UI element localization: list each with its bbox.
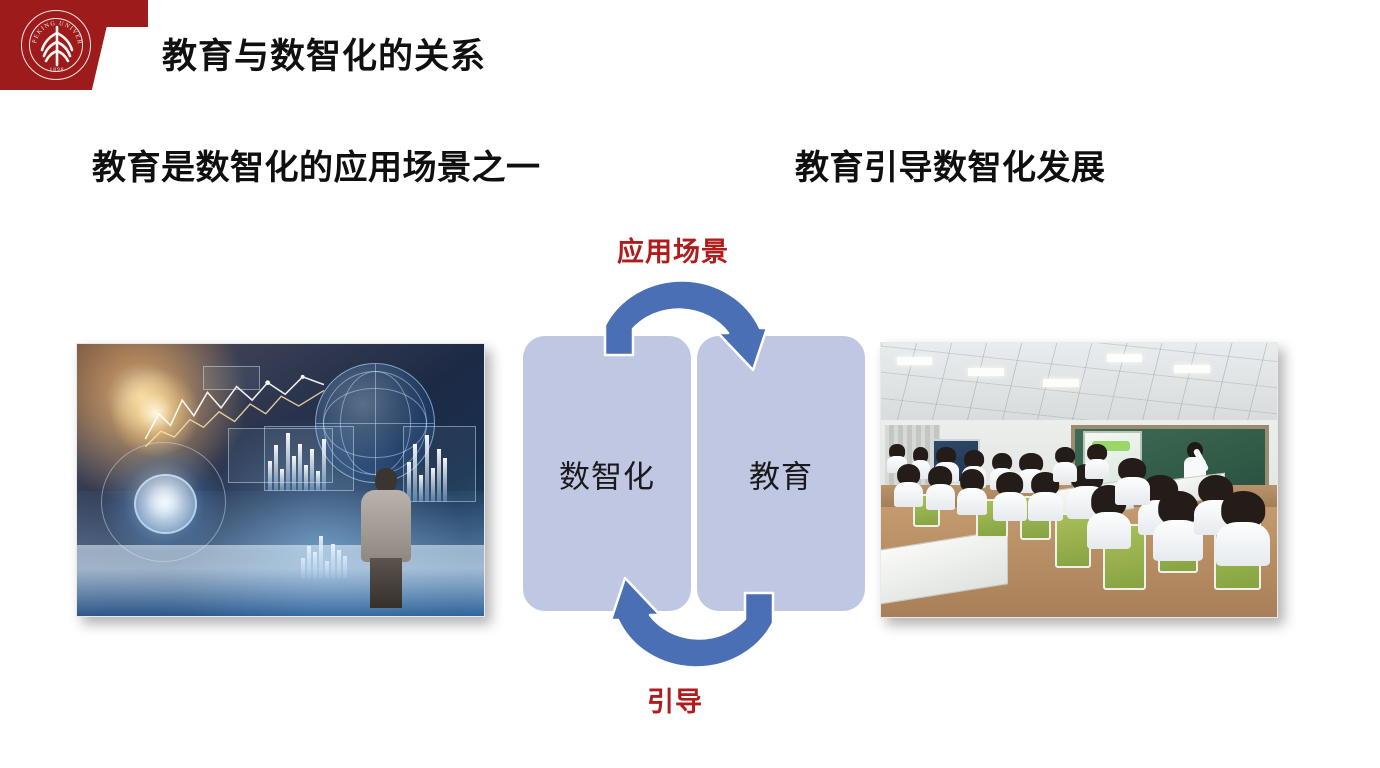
- viz-water-reflection: [77, 545, 484, 616]
- student-figure: [960, 469, 984, 513]
- ceiling-lamp: [1043, 379, 1079, 387]
- cycle-diagram: 数智化 教育 应用场景 引导: [505, 225, 875, 735]
- arrow-bottom-icon: [611, 578, 773, 668]
- student-figure: [996, 472, 1024, 519]
- ceiling-lamp: [1174, 365, 1210, 373]
- viz-panel-top: [203, 366, 260, 390]
- classroom-chair: [1055, 513, 1091, 568]
- ceiling-lamp: [968, 368, 1004, 376]
- arrow-top-icon: [605, 280, 767, 370]
- cycle-arrows: [505, 225, 875, 735]
- arrow-bottom-label: 引导: [647, 680, 703, 719]
- seal-year: 1898: [22, 67, 92, 73]
- seal-glyph-icon: [35, 23, 79, 69]
- ceiling-lamp: [897, 357, 933, 365]
- student-figure: [1087, 444, 1107, 477]
- right-image-smart-classroom: [880, 342, 1278, 618]
- student-figure: [929, 466, 953, 507]
- left-section-heading: 教育是数智化的应用场景之一: [92, 140, 541, 189]
- page-title: 教育与数智化的关系: [162, 28, 486, 79]
- student-figure: [1119, 458, 1147, 502]
- arrow-top-label: 应用场景: [617, 230, 729, 269]
- classroom-scene: [881, 343, 1277, 617]
- ceiling-lamp: [1107, 354, 1143, 362]
- viz-bar-chart-1: [268, 426, 326, 491]
- left-image-data-visualization: [76, 343, 485, 617]
- peking-university-seal-icon: PEKING UNIVERSITY 1898: [21, 10, 91, 80]
- student-figure: [1222, 491, 1266, 562]
- student-figure: [1055, 447, 1075, 480]
- right-section-heading: 教育引导数智化发展: [795, 140, 1106, 189]
- student-figure: [1158, 491, 1198, 557]
- classroom-ceiling-grid: [881, 343, 1277, 425]
- viz-person-silhouette: [357, 468, 415, 608]
- student-figure: [897, 464, 921, 505]
- slide-root: PEKING UNIVERSITY 1898 教育与数智化的关系 教育是数智化的…: [0, 0, 1380, 768]
